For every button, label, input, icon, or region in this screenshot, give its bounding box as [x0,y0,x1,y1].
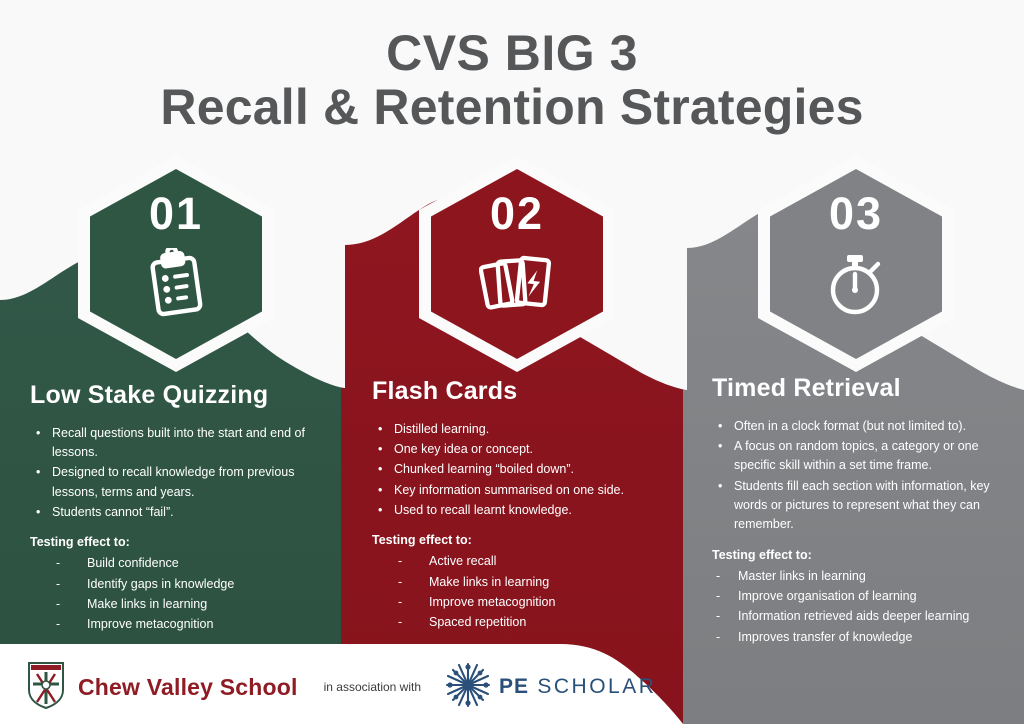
bullet-point: • [36,503,40,522]
stopwatch-icon [822,248,890,323]
column-3-effects-list: -Master links in learning -Improve organ… [712,566,1012,647]
list-item-text: Key information summarised on one side. [394,483,624,497]
column-heading-3: Timed Retrieval [712,375,1012,403]
list-item: •Key information summarised on one side. [372,481,682,500]
list-item: •Students fill each section with informa… [712,477,1012,535]
column-2-effects-list: -Active recall -Make links in learning -… [372,551,682,632]
bullet-point: • [378,440,382,459]
list-item-text: Chunked learning “boiled down”. [394,462,574,476]
list-item-text: Recall questions built into the start an… [52,426,305,459]
list-item: -Improve metacognition [372,592,682,612]
list-item: -Information retrieved aids deeper learn… [712,606,1012,626]
column-2-bullet-list: •Distilled learning. •One key idea or co… [372,420,682,521]
dash-marker: - [56,594,60,614]
list-item: -Make links in learning [30,594,330,614]
hex-number-01: 01 [149,191,203,236]
poster-header: CVS BIG 3 Recall & Retention Strategies [0,0,1024,160]
column-low-stake-quizzing: Low Stake Quizzing •Recall questions bui… [30,382,330,634]
list-item-text: Distilled learning. [394,422,489,436]
association-text: in association with [324,680,421,694]
list-item: •Chunked learning “boiled down”. [372,460,682,479]
list-item-text: Information retrieved aids deeper learni… [738,609,969,623]
bullet-point: • [378,501,382,520]
list-item-text: Used to recall learnt knowledge. [394,503,572,517]
dash-marker: - [398,592,402,612]
infographic-poster: CVS BIG 3 Recall & Retention Strategies … [0,0,1024,724]
list-item-text: Improve metacognition [429,595,555,609]
pe-scholar-logo-icon [445,662,491,713]
dash-marker: - [716,566,720,586]
list-item: -Improve organisation of learning [712,586,1012,606]
list-item: -Master links in learning [712,566,1012,586]
bullet-point: • [378,481,382,500]
list-item: •Students cannot “fail”. [30,503,330,522]
list-item-text: Often in a clock format (but not limited… [734,419,966,433]
dash-marker: - [398,551,402,571]
list-item: -Build confidence [30,553,330,573]
list-item-text: Improve metacognition [87,617,213,631]
list-item: •A focus on random topics, a category or… [712,437,1012,476]
page-title-line-1: CVS BIG 3 [0,26,1024,80]
bullet-point: • [378,420,382,439]
bullet-point: • [718,477,722,496]
dash-marker: - [56,553,60,573]
dash-marker: - [398,572,402,592]
column-timed-retrieval: Timed Retrieval •Often in a clock format… [712,375,1012,647]
list-item-text: One key idea or concept. [394,442,533,456]
column-flash-cards: Flash Cards •Distilled learning. •One ke… [372,378,682,632]
bullet-point: • [718,437,722,456]
list-item: -Identify gaps in knowledge [30,574,330,594]
list-item-text: Build confidence [87,556,179,570]
bullet-point: • [378,460,382,479]
list-item-text: Students fill each section with informat… [734,479,990,532]
bullet-point: • [36,424,40,443]
list-item: •Used to recall learnt knowledge. [372,501,682,520]
column-heading-1: Low Stake Quizzing [30,382,330,410]
bullet-point: • [718,417,722,436]
column-heading-2: Flash Cards [372,378,682,406]
column-1-bullet-list: •Recall questions built into the start a… [30,424,330,523]
dash-marker: - [398,612,402,632]
list-item-text: Make links in learning [87,597,207,611]
list-item: •Often in a clock format (but not limite… [712,417,1012,436]
list-item: -Improve metacognition [30,614,330,634]
list-item-text: Improve organisation of learning [738,589,917,603]
testing-effect-label-2: Testing effect to: [372,533,682,547]
list-item: -Active recall [372,551,682,571]
list-item-text: Spaced repetition [429,615,526,629]
dash-marker: - [716,586,720,606]
partner-name-bold: PE [499,675,529,698]
list-item-text: Make links in learning [429,575,549,589]
list-item-text: Master links in learning [738,569,866,583]
column-1-effects-list: -Build confidence -Identify gaps in know… [30,553,330,634]
page-title-line-2: Recall & Retention Strategies [0,80,1024,134]
list-item-text: Designed to recall knowledge from previo… [52,465,295,498]
bullet-point: • [36,463,40,482]
testing-effect-label-3: Testing effect to: [712,548,1012,562]
list-item: •One key idea or concept. [372,440,682,459]
dash-marker: - [56,614,60,634]
hex-number-03: 03 [829,191,883,236]
chew-valley-crest-icon [26,660,66,715]
footer-content: Chew Valley School in association with [0,650,690,724]
flash-cards-icon [479,248,555,319]
dash-marker: - [716,606,720,626]
clipboard-checklist-icon [145,248,207,323]
list-item: •Recall questions built into the start a… [30,424,330,463]
list-item: •Distilled learning. [372,420,682,439]
column-3-bullet-list: •Often in a clock format (but not limite… [712,417,1012,535]
list-item-text: Active recall [429,554,496,568]
school-name: Chew Valley School [78,674,298,701]
list-item-text: A focus on random topics, a category or … [734,439,979,472]
testing-effect-label-1: Testing effect to: [30,535,330,549]
list-item: •Designed to recall knowledge from previ… [30,463,330,502]
list-item: -Spaced repetition [372,612,682,632]
list-item: -Make links in learning [372,572,682,592]
dash-marker: - [56,574,60,594]
list-item-text: Identify gaps in knowledge [87,577,234,591]
hex-number-02: 02 [490,191,544,236]
partner-name: PE SCHOLAR [499,675,656,699]
partner-name-rest: SCHOLAR [529,675,656,698]
list-item-text: Students cannot “fail”. [52,505,174,519]
